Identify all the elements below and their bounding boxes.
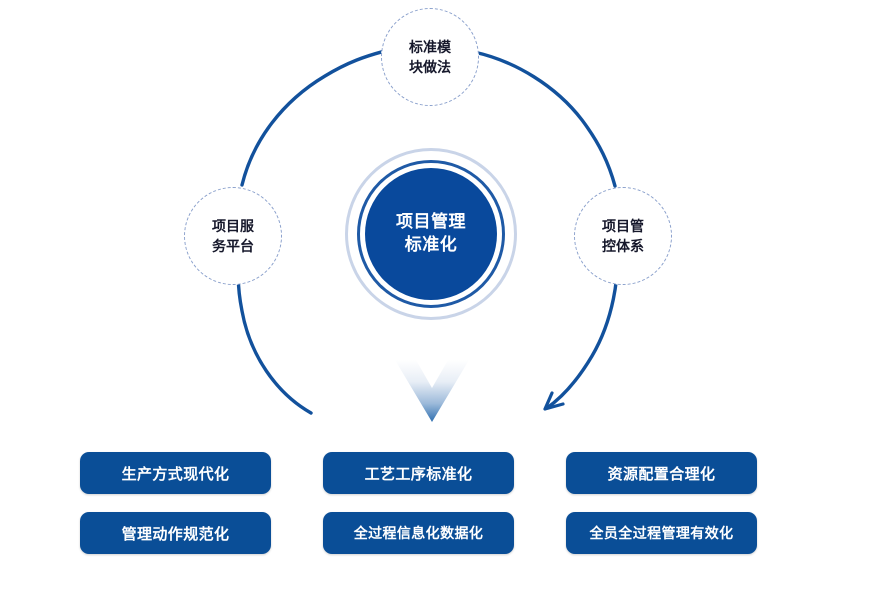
down-arrow-icon [393, 358, 471, 424]
satellite-label-right: 项目管 控体系 [602, 216, 644, 257]
outcome-box-2[interactable]: 工艺工序标准化 [323, 452, 514, 494]
satellite-node-left[interactable]: 项目服 务平台 [184, 187, 282, 285]
hub-label: 项目管理 标准化 [396, 211, 466, 257]
outcome-box-grid: 生产方式现代化 工艺工序标准化 资源配置合理化 管理动作规范化 全过程信息化数据… [80, 452, 758, 554]
outcome-box-4[interactable]: 管理动作规范化 [80, 512, 271, 554]
center-hub: 项目管理 标准化 [345, 148, 517, 320]
diagram-canvas: 项目管理 标准化 标准模 块做法 项目服 务平台 项目管 控体系 生产方式现代化… [0, 0, 884, 590]
satellite-node-right[interactable]: 项目管 控体系 [574, 187, 672, 285]
outcome-box-label-5: 全过程信息化数据化 [354, 523, 484, 543]
hub-disc[interactable]: 项目管理 标准化 [366, 169, 496, 299]
arc-arrowhead-icon [545, 393, 563, 409]
outcome-box-label-4: 管理动作规范化 [122, 523, 230, 544]
outcome-box-label-3: 资源配置合理化 [608, 463, 716, 484]
satellite-label-left: 项目服 务平台 [212, 216, 254, 257]
outcome-box-label-6: 全员全过程管理有效化 [590, 523, 734, 543]
outcome-box-5[interactable]: 全过程信息化数据化 [323, 512, 514, 554]
outcome-box-3[interactable]: 资源配置合理化 [566, 452, 757, 494]
outcome-box-1[interactable]: 生产方式现代化 [80, 452, 271, 494]
down-arrow-shape [395, 360, 469, 422]
outcome-box-label-2: 工艺工序标准化 [365, 463, 473, 484]
outcome-box-label-1: 生产方式现代化 [122, 463, 230, 484]
outcome-box-6[interactable]: 全员全过程管理有效化 [566, 512, 757, 554]
satellite-label-top: 标准模 块做法 [409, 37, 451, 78]
satellite-node-top[interactable]: 标准模 块做法 [381, 8, 479, 106]
